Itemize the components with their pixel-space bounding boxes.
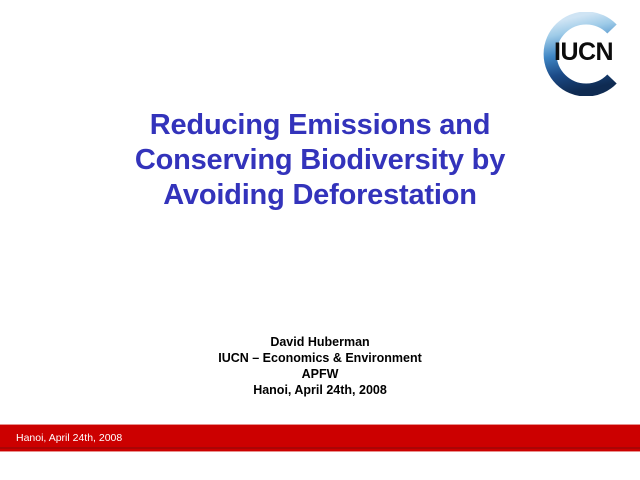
slide-title: Reducing Emissions and Conserving Biodiv… — [60, 108, 580, 213]
presentation-slide: IUCN Reducing Emissions and Conserving B… — [0, 0, 640, 480]
subtitle-event: APFW — [60, 366, 580, 382]
subtitle-location-date: Hanoi, April 24th, 2008 — [60, 382, 580, 398]
footer-whitespace — [0, 452, 640, 480]
footer-text: Hanoi, April 24th, 2008 — [16, 432, 122, 444]
slide-subtitle: David Huberman IUCN – Economics & Enviro… — [60, 334, 580, 398]
title-line-1: Reducing Emissions and — [60, 108, 580, 143]
iucn-logo: IUCN — [533, 12, 633, 96]
subtitle-affiliation: IUCN – Economics & Environment — [60, 350, 580, 366]
footer-bar: Hanoi, April 24th, 2008 — [0, 424, 640, 452]
title-line-2: Conserving Biodiversity by — [60, 143, 580, 178]
iucn-wordmark: IUCN — [554, 40, 613, 65]
title-line-3: Avoiding Deforestation — [60, 178, 580, 213]
subtitle-author: David Huberman — [60, 334, 580, 350]
